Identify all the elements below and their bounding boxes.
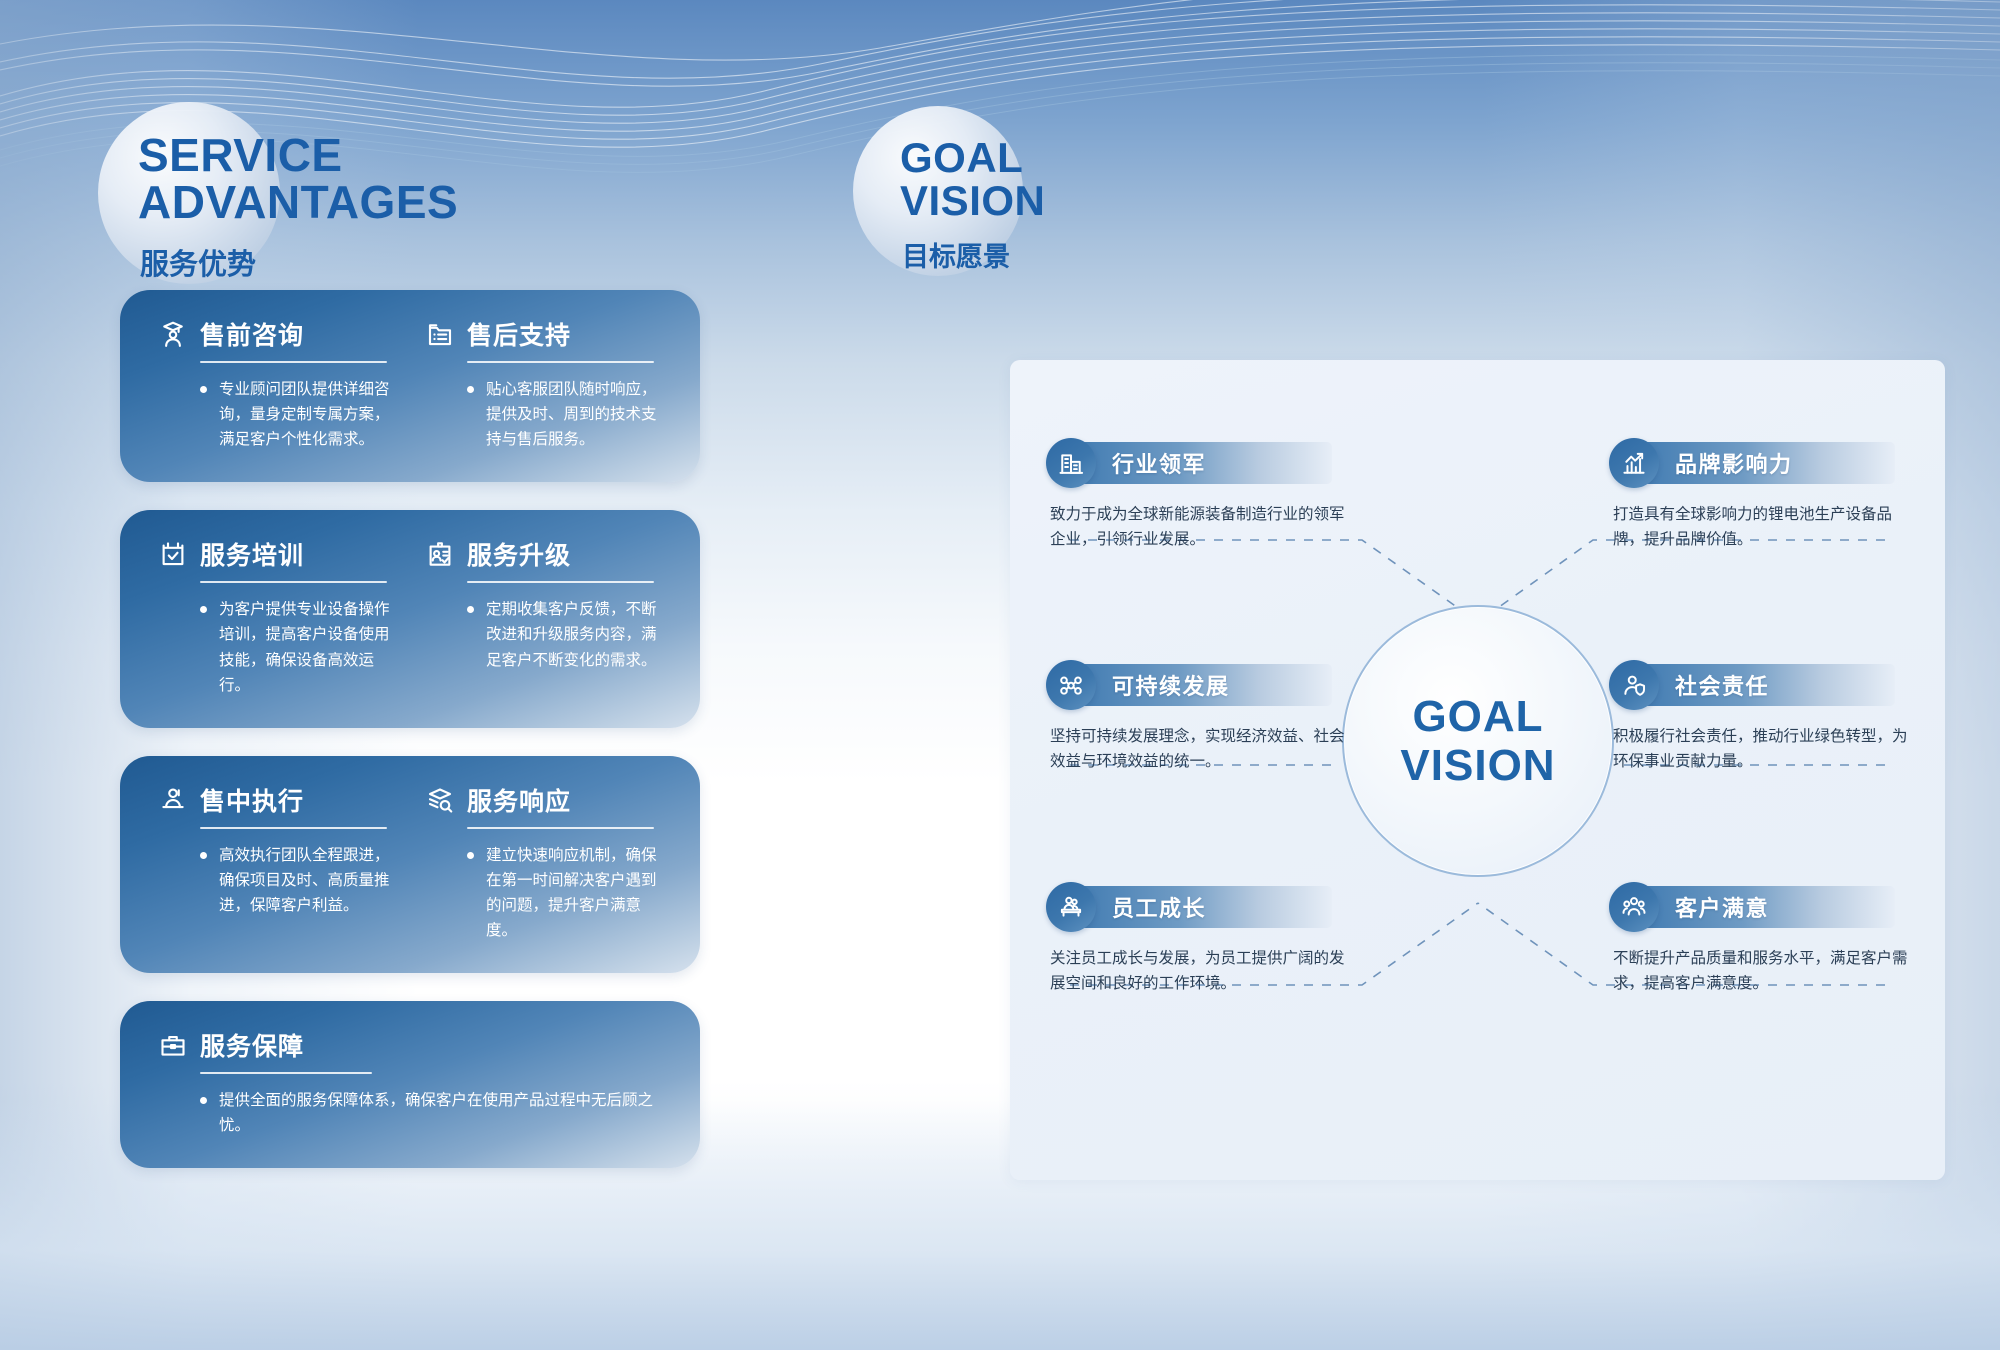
service-card-title-row: 售中执行 (148, 782, 405, 818)
service-card-divider (467, 827, 654, 829)
consultant-person-icon (158, 319, 188, 349)
service-card-divider (200, 361, 387, 363)
goal-item-title: 社会责任 (1675, 669, 1769, 701)
service-card-bullet: 提供全面的服务保障体系，确保客户在使用产品过程中无后顾之忧。 (200, 1088, 662, 1138)
goal-vision-item: 社会责任 积极履行社会责任，推动行业绿色转型，为环保事业贡献力量。 (1609, 660, 1909, 774)
service-card-text: 提供全面的服务保障体系，确保客户在使用产品过程中无后顾之忧。 (219, 1088, 662, 1138)
goal-center-line2: VISION (1400, 741, 1555, 790)
service-card-column: 售中执行 高效执行团队全程跟进，确保项目及时、高质量推进，保障客户利益。 (148, 782, 405, 943)
calendar-check-icon (158, 539, 188, 569)
goal-item-text: 打造具有全球影响力的锂电池生产设备品牌，提升品牌价值。 (1609, 502, 1909, 552)
service-card-divider (467, 361, 654, 363)
service-card-title-row: 服务培训 (148, 536, 405, 572)
goal-item-text: 坚持可持续发展理念，实现经济效益、社会效益与环境效益的统一。 (1046, 724, 1346, 774)
service-card-title: 售后支持 (467, 316, 571, 352)
service-card-title: 服务响应 (467, 782, 571, 818)
goal-item-badge: 员工成长 (1046, 882, 1346, 932)
goal-item-badge: 客户满意 (1609, 882, 1909, 932)
service-card-bullet: 专业顾问团队提供详细咨询，量身定制专属方案，满足客户个性化需求。 (200, 377, 395, 452)
document-list-icon (425, 319, 455, 349)
person-shield-icon (1609, 660, 1659, 710)
service-card: 服务保障 提供全面的服务保障体系，确保客户在使用产品过程中无后顾之忧。 (120, 1001, 700, 1168)
service-card-text: 贴心客服团队随时响应，提供及时、周到的技术支持与售后服务。 (486, 377, 662, 452)
goal-item-badge: 品牌影响力 (1609, 438, 1909, 488)
goal-item-title: 员工成长 (1112, 891, 1206, 923)
goal-item-text: 积极履行社会责任，推动行业绿色转型，为环保事业贡献力量。 (1609, 724, 1909, 774)
bullet-dot-icon (200, 606, 207, 613)
service-title-en: SERVICE ADVANTAGES (138, 110, 458, 227)
goal-item-title: 行业领军 (1112, 447, 1206, 479)
goal-section-header: GOAL VISION 目标愿景 (865, 110, 1045, 274)
service-card: 服务培训 为客户提供专业设备操作培训，提高客户设备使用技能，确保设备高效运行。 … (120, 510, 700, 727)
service-card-bullet: 建立快速响应机制，确保在第一时间解决客户遇到的问题，提升客户满意度。 (467, 843, 662, 943)
goal-title-en: GOAL VISION (900, 110, 1045, 223)
goal-item-badge: 行业领军 (1046, 438, 1346, 488)
service-card-title-row: 售后支持 (415, 316, 672, 352)
service-title-en-line2: ADVANTAGES (138, 179, 458, 226)
goal-vision-item: 行业领军 致力于成为全球新能源装备制造行业的领军企业，引领行业发展。 (1046, 438, 1346, 552)
goal-title-en-line2: VISION (900, 179, 1045, 222)
service-card-bullet: 高效执行团队全程跟进，确保项目及时、高质量推进，保障客户利益。 (200, 843, 395, 918)
service-card-title: 服务培训 (200, 536, 304, 572)
goal-vision-item: 客户满意 不断提升产品质量和服务水平，满足客户需求，提高客户满意度。 (1609, 882, 1909, 996)
service-card-text: 定期收集客户反馈，不断改进和升级服务内容，满足客户不断变化的需求。 (486, 597, 662, 672)
goal-item-badge: 可持续发展 (1046, 660, 1346, 710)
briefcase-icon (158, 1030, 188, 1060)
building-icon (1046, 438, 1096, 488)
chart-growth-icon (1609, 438, 1659, 488)
goal-vision-item: 员工成长 关注员工成长与发展，为员工提供广阔的发展空间和良好的工作环境。 (1046, 882, 1346, 996)
bullet-dot-icon (467, 386, 474, 393)
service-card-title: 服务保障 (200, 1027, 304, 1063)
service-card-title: 服务升级 (467, 536, 571, 572)
service-card-title: 售前咨询 (200, 316, 304, 352)
service-card: 售前咨询 专业顾问团队提供详细咨询，量身定制专属方案，满足客户个性化需求。 售后… (120, 290, 700, 482)
goal-item-title: 客户满意 (1675, 891, 1769, 923)
goal-item-title: 品牌影响力 (1675, 447, 1793, 479)
bullet-dot-icon (200, 1097, 207, 1104)
goal-item-text: 关注员工成长与发展，为员工提供广阔的发展空间和良好的工作环境。 (1046, 946, 1346, 996)
goal-item-badge: 社会责任 (1609, 660, 1909, 710)
service-section-header: SERVICE ADVANTAGES 服务优势 (120, 110, 458, 283)
goal-center-line1: GOAL (1412, 692, 1543, 741)
service-advantage-list: 售前咨询 专业顾问团队提供详细咨询，量身定制专属方案，满足客户个性化需求。 售后… (120, 290, 700, 1196)
service-card-column: 服务培训 为客户提供专业设备操作培训，提高客户设备使用技能，确保设备高效运行。 (148, 536, 405, 697)
people-group-icon (1609, 882, 1659, 932)
person-desk-icon (158, 785, 188, 815)
service-title-en-line1: SERVICE (138, 132, 458, 179)
goal-item-title: 可持续发展 (1112, 669, 1230, 701)
service-card-title-row: 售前咨询 (148, 316, 405, 352)
service-card-title: 售中执行 (200, 782, 304, 818)
service-card-column: 服务响应 建立快速响应机制，确保在第一时间解决客户遇到的问题，提升客户满意度。 (415, 782, 672, 943)
goal-title-en-line1: GOAL (900, 136, 1045, 179)
goal-item-text: 不断提升产品质量和服务水平，满足客户需求，提高客户满意度。 (1609, 946, 1909, 996)
service-card-bullet: 为客户提供专业设备操作培训，提高客户设备使用技能，确保设备高效运行。 (200, 597, 395, 697)
bullet-dot-icon (467, 606, 474, 613)
service-card-text: 建立快速响应机制，确保在第一时间解决客户遇到的问题，提升客户满意度。 (486, 843, 662, 943)
service-card-column: 服务保障 提供全面的服务保障体系，确保客户在使用产品过程中无后顾之忧。 (148, 1027, 672, 1138)
bullet-dot-icon (200, 852, 207, 859)
service-title-cn: 服务优势 (140, 241, 458, 283)
service-card-bullet: 贴心客服团队随时响应，提供及时、周到的技术支持与售后服务。 (467, 377, 662, 452)
service-card-text: 高效执行团队全程跟进，确保项目及时、高质量推进，保障客户利益。 (219, 843, 395, 918)
goal-vision-item: 可持续发展 坚持可持续发展理念，实现经济效益、社会效益与环境效益的统一。 (1046, 660, 1346, 774)
service-card-bullet: 定期收集客户反馈，不断改进和升级服务内容，满足客户不断变化的需求。 (467, 597, 662, 672)
service-card-text: 专业顾问团队提供详细咨询，量身定制专属方案，满足客户个性化需求。 (219, 377, 395, 452)
service-card-title-row: 服务保障 (148, 1027, 672, 1063)
service-card-title-row: 服务响应 (415, 782, 672, 818)
goal-vision-panel: GOAL VISION 行业领军 致力于成为全球新能源装备制造行业的领军企业，引… (1010, 360, 1945, 1180)
service-card-column: 服务升级 定期收集客户反馈，不断改进和升级服务内容，满足客户不断变化的需求。 (415, 536, 672, 697)
service-card: 售中执行 高效执行团队全程跟进，确保项目及时、高质量推进，保障客户利益。 服务响… (120, 756, 700, 973)
goal-item-text: 致力于成为全球新能源装备制造行业的领军企业，引领行业发展。 (1046, 502, 1346, 552)
goal-vision-center-circle: GOAL VISION (1342, 605, 1614, 877)
people-growth-icon (1046, 882, 1096, 932)
service-card-divider (467, 581, 654, 583)
service-card-divider (200, 827, 387, 829)
service-card-column: 售前咨询 专业顾问团队提供详细咨询，量身定制专属方案，满足客户个性化需求。 (148, 316, 405, 452)
service-card-title-row: 服务升级 (415, 536, 672, 572)
service-card-text: 为客户提供专业设备操作培训，提高客户设备使用技能，确保设备高效运行。 (219, 597, 395, 697)
layers-search-icon (425, 785, 455, 815)
service-card-column: 售后支持 贴心客服团队随时响应，提供及时、周到的技术支持与售后服务。 (415, 316, 672, 452)
service-card-divider (200, 1072, 372, 1074)
bullet-dot-icon (467, 852, 474, 859)
bullet-dot-icon (200, 386, 207, 393)
goal-vision-item: 品牌影响力 打造具有全球影响力的锂电池生产设备品牌，提升品牌价值。 (1609, 438, 1909, 552)
goal-title-cn: 目标愿景 (902, 235, 1045, 274)
service-card-divider (200, 581, 387, 583)
id-card-check-icon (425, 539, 455, 569)
network-nodes-icon (1046, 660, 1096, 710)
